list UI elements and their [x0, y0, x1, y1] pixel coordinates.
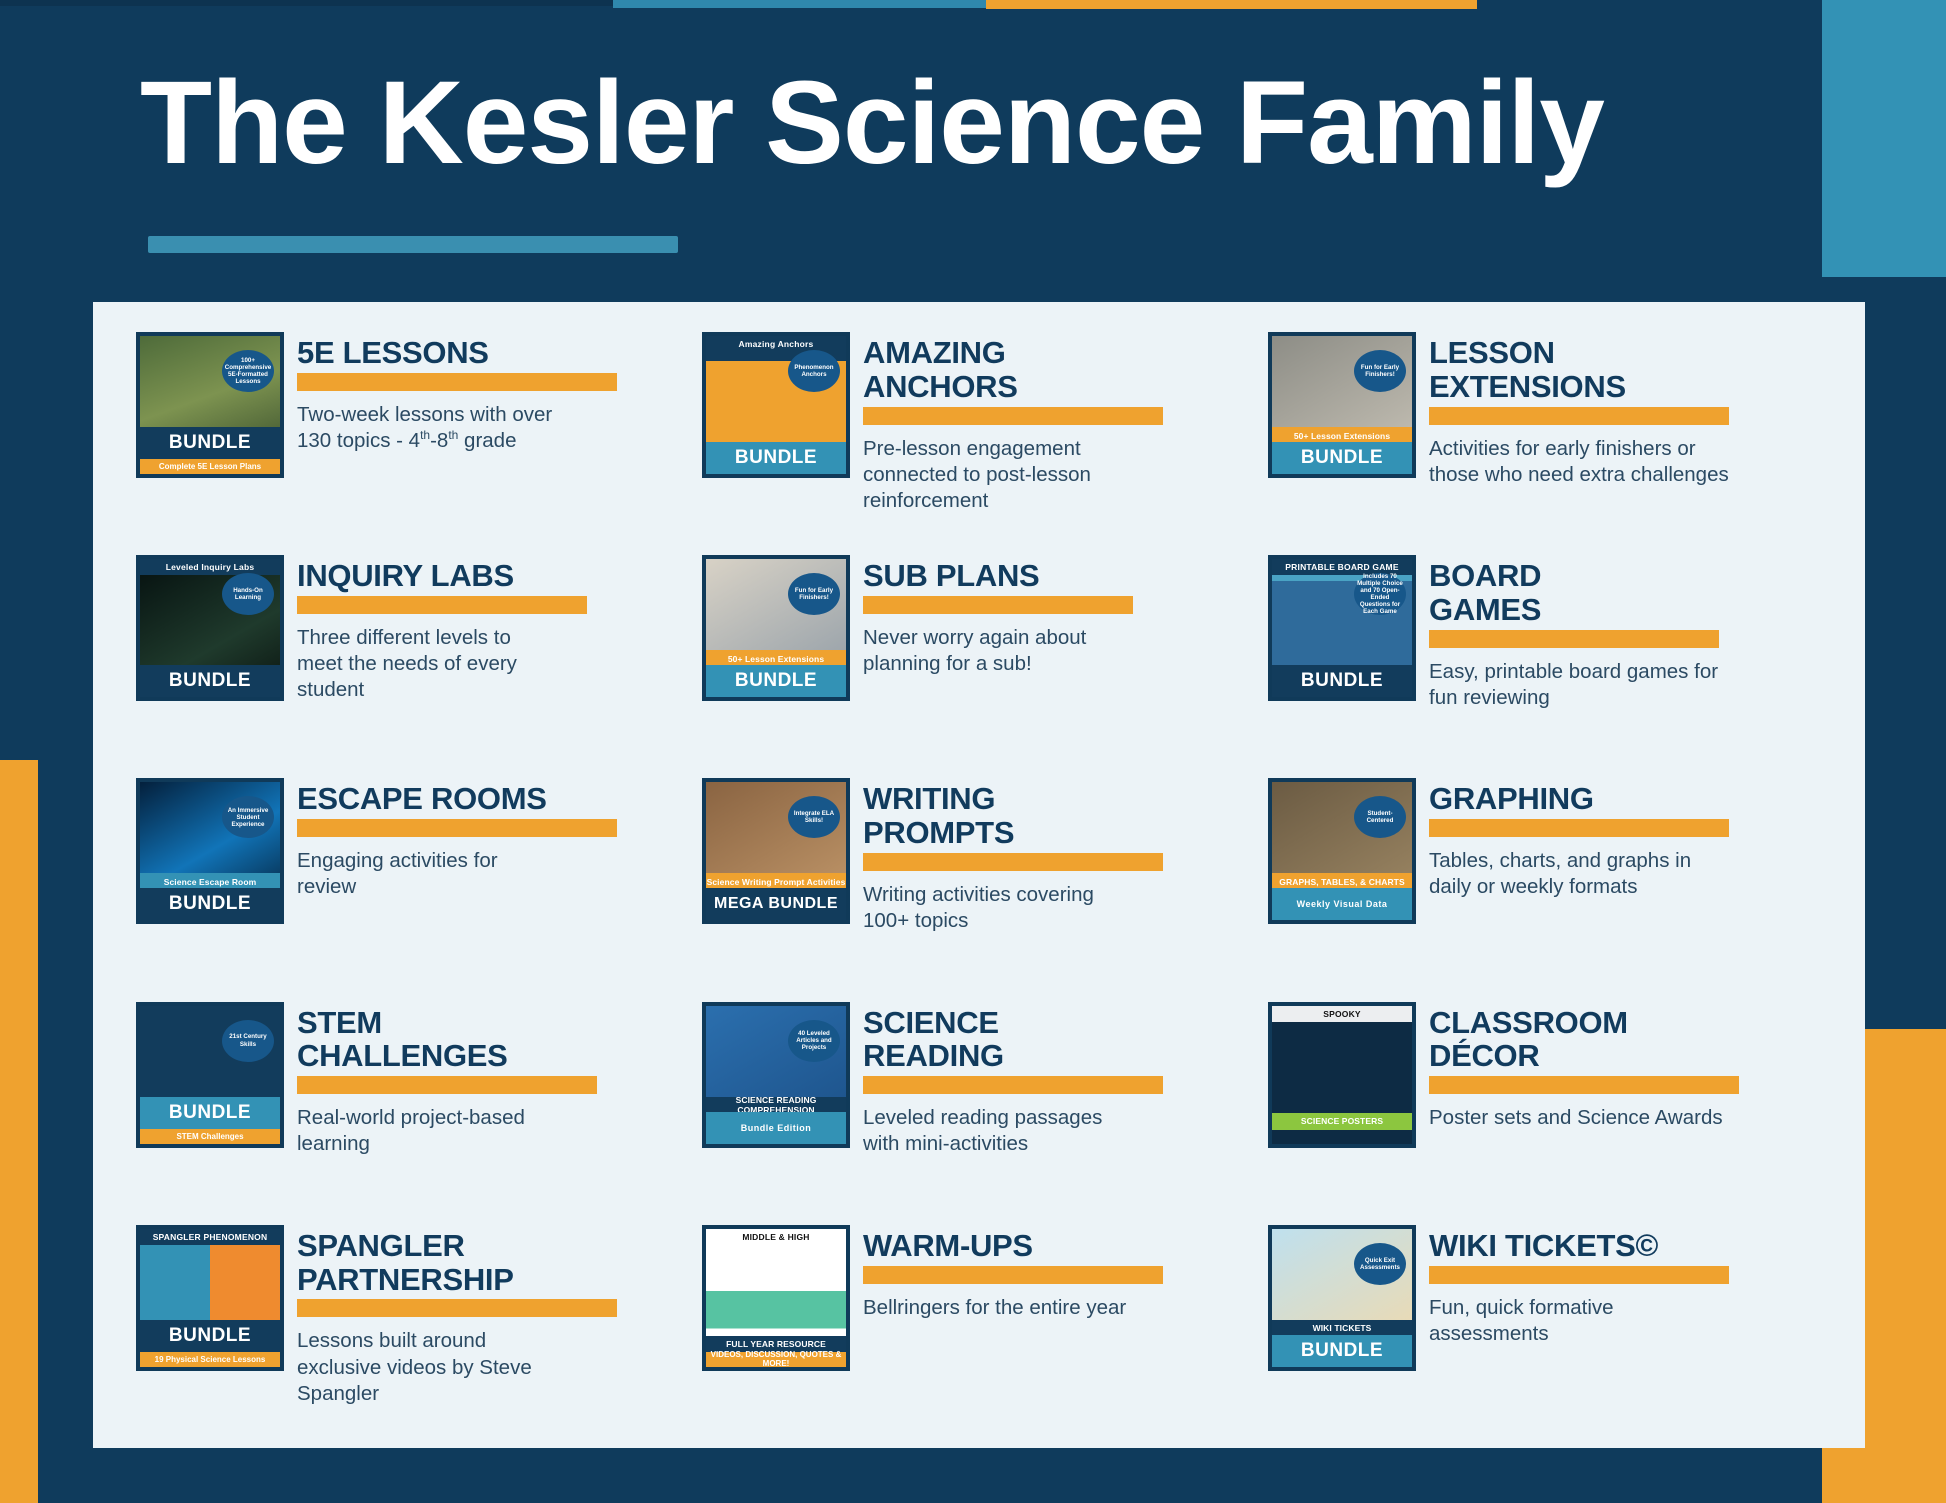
product-card-text: SUB PLANSNever worry again about plannin…	[863, 555, 1268, 677]
thumbnail-bundle-label: BUNDLE	[140, 1320, 280, 1352]
product-title: ESCAPE ROOMS	[297, 782, 702, 816]
product-title: BOARDGAMES	[1429, 559, 1868, 627]
product-card-text: 5E LESSONSTwo-week lessons with over 130…	[297, 332, 702, 454]
thumbnail-sub-label: 19 Physical Science Lessons	[140, 1352, 280, 1367]
product-title-line: EXTENSIONS	[1429, 370, 1868, 404]
product-card-text: SCIENCEREADINGLeveled reading passages w…	[863, 1002, 1268, 1158]
product-description: Fun, quick formative assessments	[1429, 1295, 1729, 1347]
product-title: SPANGLERPARTNERSHIP	[297, 1229, 702, 1297]
product-description: Writing activities covering 100+ topics	[863, 882, 1128, 934]
thumbnail-bundle-label: BUNDLE	[1272, 442, 1412, 474]
product-card-text: AMAZINGANCHORSPre-lesson engagement conn…	[863, 332, 1268, 514]
thumbnail-bundle-label: BUNDLE	[706, 665, 846, 697]
product-card-text: CLASSROOMDÉCORPoster sets and Science Aw…	[1429, 1002, 1868, 1132]
title-underline-accent	[148, 236, 678, 253]
content-panel: 100+ Comprehensive 5E-Formatted LessonsB…	[93, 302, 1865, 1448]
thumbnail-bundle-label: BUNDLE	[1272, 665, 1412, 697]
product-description: Bellringers for the entire year	[863, 1295, 1128, 1321]
product-title-line: STEM	[297, 1006, 702, 1040]
product-card-text: BOARDGAMESEasy, printable board games fo…	[1429, 555, 1868, 711]
product-title-rule	[863, 1076, 1163, 1094]
thumbnail-badge: Fun for Early Finishers!	[1354, 350, 1406, 392]
product-title-rule	[1429, 1266, 1729, 1284]
thumbnail-badge: 40 Leveled Articles and Projects	[788, 1020, 840, 1062]
product-description: Tables, charts, and graphs in daily or w…	[1429, 848, 1729, 900]
product-description: Easy, printable board games for fun revi…	[1429, 659, 1729, 711]
thumbnail-badge: Includes 70 Multiple Choice and 70 Open-…	[1354, 573, 1406, 615]
product-title-rule	[863, 1266, 1163, 1284]
product-description: Two-week lessons with over 130 topics - …	[297, 402, 562, 454]
product-title-line: DÉCOR	[1429, 1039, 1868, 1073]
product-title: STEMCHALLENGES	[297, 1006, 702, 1074]
product-card[interactable]: 21st Century SkillsBUNDLESTEM Challenges…	[136, 1002, 702, 1225]
product-card[interactable]: PRINTABLE BOARD GAMEIncludes 70 Multiple…	[1268, 555, 1868, 778]
product-thumbnail[interactable]: An Immersive Student ExperienceScience E…	[136, 778, 284, 924]
product-title: WIKI TICKETS©	[1429, 1229, 1868, 1263]
thumbnail-bundle-label: BUNDLE	[140, 665, 280, 697]
product-card-text: SPANGLERPARTNERSHIPLessons built around …	[297, 1225, 702, 1407]
product-title-line: READING	[863, 1039, 1268, 1073]
product-title-rule	[297, 373, 617, 391]
thumbnail-bundle-label: BUNDLE	[706, 442, 846, 474]
product-thumbnail[interactable]: SPOOKYSCIENCE POSTERS	[1268, 1002, 1416, 1148]
product-card-text: WIKI TICKETS©Fun, quick formative assess…	[1429, 1225, 1868, 1347]
product-thumbnail[interactable]: Leveled Inquiry LabsHands-On LearningBUN…	[136, 555, 284, 701]
product-card[interactable]: SPANGLER PHENOMENONBUNDLE19 Physical Sci…	[136, 1225, 702, 1448]
product-title: SCIENCEREADING	[863, 1006, 1268, 1074]
thumbnail-badge: 21st Century Skills	[222, 1020, 274, 1062]
thumbnail-bundle-label: MEGA BUNDLE	[706, 888, 846, 920]
product-thumbnail[interactable]: Amazing AnchorsPhenomenon AnchorsBUNDLE	[702, 332, 850, 478]
product-thumbnail[interactable]: SPANGLER PHENOMENONBUNDLE19 Physical Sci…	[136, 1225, 284, 1371]
thumbnail-badge: Phenomenon Anchors	[788, 350, 840, 392]
product-title: SUB PLANS	[863, 559, 1268, 593]
product-card[interactable]: MIDDLE & HIGHFULL YEAR RESOURCEVIDEOS, D…	[702, 1225, 1268, 1448]
product-card[interactable]: 40 Leveled Articles and ProjectsSCIENCE …	[702, 1002, 1268, 1225]
product-title-line: PROMPTS	[863, 816, 1268, 850]
product-card[interactable]: Amazing AnchorsPhenomenon AnchorsBUNDLEA…	[702, 332, 1268, 555]
product-title: INQUIRY LABS	[297, 559, 702, 593]
product-title-rule	[1429, 819, 1729, 837]
product-title: 5E LESSONS	[297, 336, 702, 370]
product-title-rule	[1429, 407, 1729, 425]
header: The Kesler Science Family	[0, 0, 1822, 300]
product-description: Leveled reading passages with mini-activ…	[863, 1105, 1128, 1157]
product-title-line: CLASSROOM	[1429, 1006, 1868, 1040]
thumbnail-bundle-label: BUNDLE	[1272, 1335, 1412, 1367]
product-description: Pre-lesson engagement connected to post-…	[863, 436, 1128, 515]
product-thumbnail[interactable]: 100+ Comprehensive 5E-Formatted LessonsB…	[136, 332, 284, 478]
thumbnail-sub-label: Complete 5E Lesson Plans	[140, 459, 280, 474]
product-card-text: WARM-UPSBellringers for the entire year	[863, 1225, 1268, 1321]
product-thumbnail[interactable]: Student-CenteredGRAPHS, TABLES, & CHARTS…	[1268, 778, 1416, 924]
product-card[interactable]: Fun for Early Finishers!50+ Lesson Exten…	[702, 555, 1268, 778]
product-title-line: ESCAPE ROOMS	[297, 782, 702, 816]
product-card-text: WRITINGPROMPTSWriting activities coverin…	[863, 778, 1268, 934]
product-card-text: GRAPHINGTables, charts, and graphs in da…	[1429, 778, 1868, 900]
thumbnail-sub-label: VIDEOS, DISCUSSION, QUOTES & MORE!	[706, 1352, 846, 1367]
product-card[interactable]: SPOOKYSCIENCE POSTERSCLASSROOMDÉCORPoste…	[1268, 1002, 1868, 1225]
product-title-line: PARTNERSHIP	[297, 1263, 702, 1297]
thumbnail-top-label: MIDDLE & HIGH	[706, 1229, 846, 1245]
product-description: Activities for early finishers or those …	[1429, 436, 1729, 488]
product-description: Never worry again about planning for a s…	[863, 625, 1128, 677]
right-band-teal	[1822, 0, 1946, 277]
product-title: CLASSROOMDÉCOR	[1429, 1006, 1868, 1074]
page-title: The Kesler Science Family	[140, 62, 1800, 186]
product-card[interactable]: Quick Exit AssessmentsWIKI TICKETSBUNDLE…	[1268, 1225, 1868, 1448]
product-title-line: WRITING	[863, 782, 1268, 816]
product-title-rule	[297, 1076, 597, 1094]
left-band-orange	[0, 760, 38, 1503]
product-card-text: INQUIRY LABSThree different levels to me…	[297, 555, 702, 703]
product-card[interactable]: Leveled Inquiry LabsHands-On LearningBUN…	[136, 555, 702, 778]
product-card[interactable]: Student-CenteredGRAPHS, TABLES, & CHARTS…	[1268, 778, 1868, 1001]
product-thumbnail[interactable]: Fun for Early Finishers!50+ Lesson Exten…	[702, 555, 850, 701]
thumbnail-bundle-label: Weekly Visual Data	[1272, 888, 1412, 920]
thumbnail-badge: 100+ Comprehensive 5E-Formatted Lessons	[222, 350, 274, 392]
thumbnail-strip-label: SCIENCE POSTERS	[1272, 1113, 1412, 1130]
product-thumbnail[interactable]: Fun for Early Finishers!50+ Lesson Exten…	[1268, 332, 1416, 478]
product-description: Three different levels to meet the needs…	[297, 625, 562, 704]
product-card[interactable]: Fun for Early Finishers!50+ Lesson Exten…	[1268, 332, 1868, 555]
thumbnail-top-label: Leveled Inquiry Labs	[140, 559, 280, 575]
product-card-text: LESSONEXTENSIONSActivities for early fin…	[1429, 332, 1868, 488]
product-title-line: 5E LESSONS	[297, 336, 702, 370]
product-title-line: BOARD	[1429, 559, 1868, 593]
product-title-line: WIKI TICKETS©	[1429, 1229, 1868, 1263]
product-thumbnail[interactable]: MIDDLE & HIGHFULL YEAR RESOURCEVIDEOS, D…	[702, 1225, 850, 1371]
thumbnail-badge: Quick Exit Assessments	[1354, 1243, 1406, 1285]
product-grid: 100+ Comprehensive 5E-Formatted LessonsB…	[93, 302, 1865, 1448]
product-title-line: AMAZING	[863, 336, 1268, 370]
product-title-rule	[863, 407, 1163, 425]
product-title-rule	[863, 853, 1163, 871]
thumbnail-sub-label: STEM Challenges	[140, 1129, 280, 1144]
product-title-rule	[1429, 1076, 1739, 1094]
product-thumbnail[interactable]: 40 Leveled Articles and ProjectsSCIENCE …	[702, 1002, 850, 1148]
product-title-line: ANCHORS	[863, 370, 1268, 404]
product-title-line: SPANGLER	[297, 1229, 702, 1263]
product-title: LESSONEXTENSIONS	[1429, 336, 1868, 404]
product-card[interactable]: An Immersive Student ExperienceScience E…	[136, 778, 702, 1001]
product-title-line: GAMES	[1429, 593, 1868, 627]
product-title-line: CHALLENGES	[297, 1039, 702, 1073]
product-title-line: SUB PLANS	[863, 559, 1268, 593]
product-title: WRITINGPROMPTS	[863, 782, 1268, 850]
product-thumbnail[interactable]: PRINTABLE BOARD GAMEIncludes 70 Multiple…	[1268, 555, 1416, 701]
thumbnail-top-label: SPANGLER PHENOMENON	[140, 1229, 280, 1245]
product-title: AMAZINGANCHORS	[863, 336, 1268, 404]
product-card[interactable]: Integrate ELA Skills!Science Writing Pro…	[702, 778, 1268, 1001]
thumbnail-bundle-label: Bundle Edition	[706, 1112, 846, 1144]
thumbnail-bundle-label: BUNDLE	[140, 427, 280, 459]
product-title: GRAPHING	[1429, 782, 1868, 816]
thumbnail-bundle-label: BUNDLE	[140, 1097, 280, 1129]
product-thumbnail[interactable]: Quick Exit AssessmentsWIKI TICKETSBUNDLE	[1268, 1225, 1416, 1371]
product-card-text: ESCAPE ROOMSEngaging activities for revi…	[297, 778, 702, 900]
product-title-rule	[297, 819, 617, 837]
product-thumbnail[interactable]: Integrate ELA Skills!Science Writing Pro…	[702, 778, 850, 924]
thumbnail-top-label: SPOOKY	[1272, 1006, 1412, 1022]
thumbnail-badge: Hands-On Learning	[222, 573, 274, 615]
product-description: Lessons built around exclusive videos by…	[297, 1328, 562, 1407]
thumbnail-top-label: Amazing Anchors	[706, 336, 846, 352]
product-title-line: WARM-UPS	[863, 1229, 1268, 1263]
product-title-line: INQUIRY LABS	[297, 559, 702, 593]
product-description: Real-world project-based learning	[297, 1105, 562, 1157]
product-thumbnail[interactable]: 21st Century SkillsBUNDLESTEM Challenges	[136, 1002, 284, 1148]
product-title: WARM-UPS	[863, 1229, 1268, 1263]
product-title-line: SCIENCE	[863, 1006, 1268, 1040]
product-title-rule	[297, 596, 587, 614]
product-title-line: GRAPHING	[1429, 782, 1868, 816]
product-title-rule	[863, 596, 1133, 614]
product-description: Engaging activities for review	[297, 848, 562, 900]
product-title-rule	[297, 1299, 617, 1317]
product-description: Poster sets and Science Awards	[1429, 1105, 1729, 1131]
product-title-line: LESSON	[1429, 336, 1868, 370]
product-card-text: STEMCHALLENGESReal-world project-based l…	[297, 1002, 702, 1158]
thumbnail-badge: Fun for Early Finishers!	[788, 573, 840, 615]
product-title-rule	[1429, 630, 1719, 648]
product-card[interactable]: 100+ Comprehensive 5E-Formatted LessonsB…	[136, 332, 702, 555]
thumbnail-bundle-label: BUNDLE	[140, 888, 280, 920]
